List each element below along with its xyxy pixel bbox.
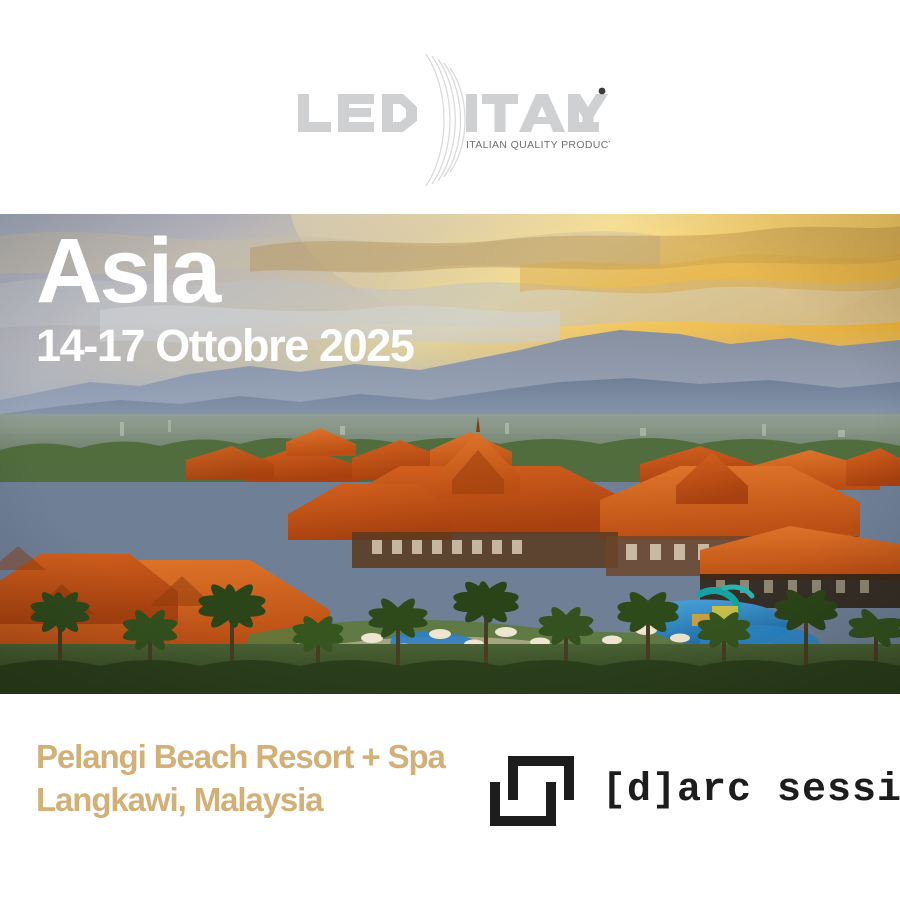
brand-tagline: ITALIAN QUALITY PRODUCTS <box>466 139 610 151</box>
led-wordmark <box>298 94 417 132</box>
photo-vignette <box>0 214 900 694</box>
hero-photo <box>0 214 900 694</box>
registered-mark-icon <box>599 88 606 95</box>
darc-sessions-logo: [d]arc sessions <box>486 752 900 830</box>
concentric-arcs-icon <box>426 54 465 186</box>
darc-sessions-wordmark: [d]arc sessions <box>602 771 900 811</box>
led-italy-logo: ITALIAN QUALITY PRODUCTS ITALIAN QUALITY… <box>290 50 610 190</box>
poster-canvas: ITALIAN QUALITY PRODUCTS ITALIAN QUALITY… <box>0 0 900 900</box>
italy-wordmark <box>466 94 608 132</box>
top-white-band: ITALIAN QUALITY PRODUCTS ITALIAN QUALITY… <box>0 0 900 214</box>
venue-name: Pelangi Beach Resort + Spa <box>36 736 476 779</box>
venue-location: Langkawi, Malaysia <box>36 779 476 822</box>
venue-block: Pelangi Beach Resort + Spa Langkawi, Mal… <box>36 736 476 822</box>
offset-brackets-icon <box>486 752 578 830</box>
